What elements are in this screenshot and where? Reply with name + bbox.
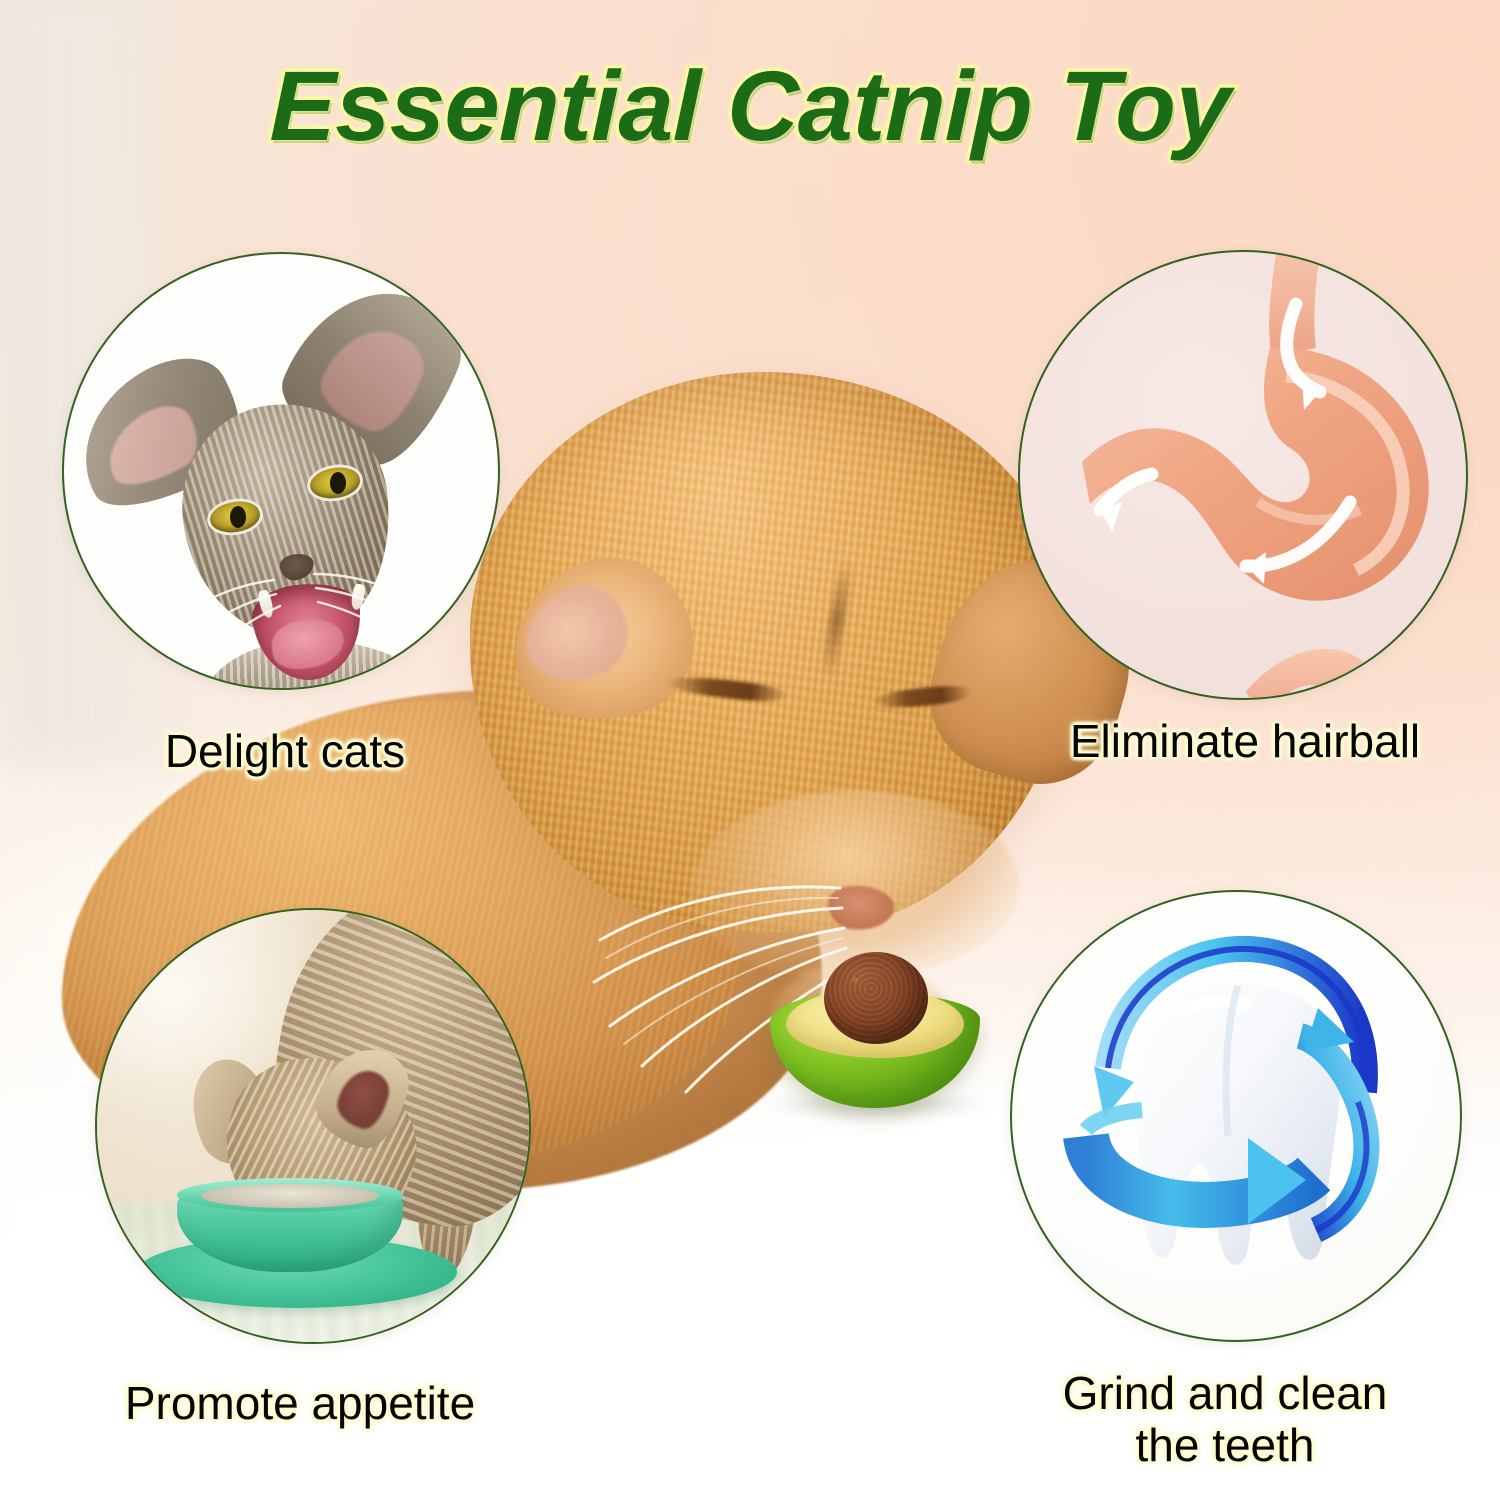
duodenum-shape [1246, 649, 1386, 700]
tooth-diagram [1012, 892, 1462, 1342]
avocado-catnip-toy[interactable] [770, 952, 980, 1112]
caption-eliminate-hairball: Eliminate hairball [1000, 716, 1490, 768]
caption-grind-clean-teeth: Grind and clean the teeth [1000, 1368, 1450, 1471]
tabby-whiskers [124, 494, 454, 690]
caption-promote-appetite: Promote appetite [40, 1378, 560, 1430]
title-container: Essential Catnip Toy [0, 56, 1500, 157]
feature-image-delight-cats[interactable] [62, 252, 500, 690]
stomach-diagram [1020, 252, 1468, 700]
feature-image-promote-appetite[interactable] [95, 908, 531, 1344]
arrow-band-top-edge [1086, 1110, 1142, 1130]
product-infographic: Essential Catnip Toy Delight cats Elimin… [0, 0, 1500, 1500]
avocado-pit-texture [824, 952, 928, 1044]
tabby-right-pupil [330, 472, 346, 494]
caption-delight-cats: Delight cats [60, 726, 510, 778]
page-title: Essential Catnip Toy [269, 56, 1231, 157]
feature-image-eliminate-hairball[interactable] [1018, 250, 1468, 700]
feature-image-grind-clean-teeth[interactable] [1010, 890, 1462, 1342]
bowl-inner-steel [201, 1184, 379, 1208]
